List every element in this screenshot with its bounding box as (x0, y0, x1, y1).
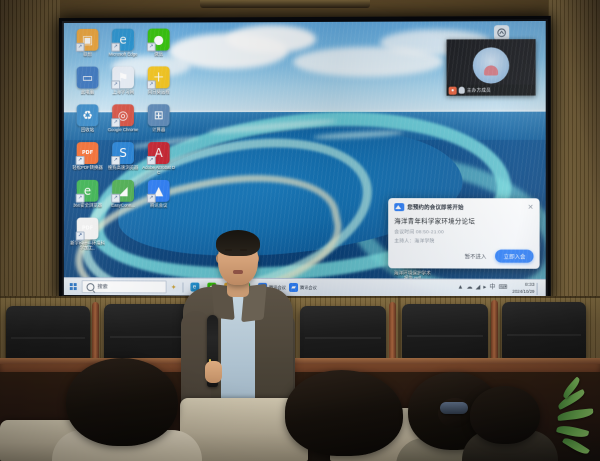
network-tray-icon[interactable]: ◢ (476, 285, 481, 292)
clock-date: 2024/10/29 (512, 288, 534, 294)
participant-name: 主办方成员 (467, 87, 491, 93)
dialog-actions: 暂不进入 立即入会 (388, 245, 539, 269)
participant-video-tile[interactable]: ● 主办方成员 (447, 39, 536, 96)
chair (6, 306, 90, 362)
desktop-icon-label: 微信 (141, 51, 177, 61)
desktop-icon[interactable]: ◢↗EasyConn... (105, 180, 141, 213)
windows-start-icon[interactable] (67, 280, 80, 293)
keyboard-tray-icon[interactable]: ⌨ (498, 285, 507, 292)
tencent-meeting-logo-icon (394, 203, 404, 211)
chair (300, 306, 386, 362)
audience-member (470, 386, 544, 461)
desktop-icon-label: 联想 (70, 52, 106, 62)
shortcut-arrow-icon: ↗ (147, 43, 156, 52)
desktop-icon[interactable]: ⊞计算器 (141, 104, 177, 137)
desktop-icon-label: 360安全浏览器 (70, 203, 106, 213)
app-icon: e↗ (112, 29, 134, 51)
desktop-icon-label: Google Chrome (105, 127, 141, 137)
chair (402, 304, 488, 360)
app-icon: ▲↗ (148, 180, 170, 202)
app-icon: e↗ (77, 180, 99, 202)
close-icon[interactable]: ✕ (528, 204, 534, 211)
app-icon: ◎↗ (112, 104, 134, 126)
app-icon: ▣↗ (77, 29, 99, 51)
audience-member (58, 358, 188, 461)
ceiling-light-strip (200, 0, 370, 8)
desktop-icon-label: 搜狗高速浏览器 (105, 165, 141, 175)
desktop-icon-label: 回收站 (70, 127, 106, 137)
windows-taskbar[interactable]: 搜索 ✦ e●▭e▰腾讯会议▰腾讯会议 ▲☁◢▸中⌨ 8:33 2024/10/… (64, 277, 546, 297)
meeting-subject: 海洋青年科学家环境分论坛 (388, 213, 539, 227)
wall-seam (0, 296, 600, 298)
volume-tray-icon[interactable]: ▸ (483, 285, 486, 292)
app-icon: ⊞ (148, 104, 170, 126)
meeting-time: 会议时间 08:50-21:00 (388, 227, 539, 236)
shortcut-arrow-icon: ↗ (76, 156, 85, 165)
video-conference-panel[interactable]: ● 主办方成员 (447, 39, 536, 96)
desktop-icon-label: Adobe Acrobat DC (141, 165, 177, 175)
dialog-title: 您预约的会议即将开始 (407, 203, 524, 211)
speaker-hair (216, 230, 260, 256)
chair-frame (491, 300, 498, 364)
desktop-icon-grid: ▣↗联想e↗Microsoft Edge●↗微信▭此电脑⚑↗上海学习网＋↗向日葵… (70, 28, 181, 255)
shortcut-arrow-icon: ↗ (111, 43, 120, 52)
chair-frame (389, 302, 396, 364)
dismiss-button[interactable]: 暂不进入 (461, 250, 491, 262)
desktop-icon-label: 腾讯会议 (141, 203, 177, 213)
onedrive-tray-icon[interactable]: ☁ (466, 285, 472, 292)
desktop-icon[interactable]: ♻回收站 (70, 104, 106, 137)
wall-display: ▣↗联想e↗Microsoft Edge●↗微信▭此电脑⚑↗上海学习网＋↗向日葵… (59, 16, 551, 302)
desktop-icon[interactable]: ▣↗联想 (70, 29, 106, 62)
shortcut-arrow-icon: ↗ (76, 231, 85, 240)
conference-room-scene: ▣↗联想e↗Microsoft Edge●↗微信▭此电脑⚑↗上海学习网＋↗向日葵… (0, 0, 600, 461)
desktop-icon[interactable]: ▲↗腾讯会议 (141, 180, 177, 213)
shortcut-arrow-icon: ↗ (76, 194, 85, 203)
chair-frame (92, 302, 99, 364)
shortcut-arrow-icon: ↗ (111, 80, 120, 89)
desktop-icon[interactable]: e↗Microsoft Edge (105, 29, 141, 62)
avatar (473, 47, 509, 83)
app-icon: ＋↗ (148, 66, 170, 88)
meeting-reminder-dialog[interactable]: 您预约的会议即将开始 ✕ 海洋青年科学家环境分论坛 会议时间 08:50-21:… (388, 198, 539, 269)
app-icon: ♻ (77, 104, 99, 126)
participant-name-bar: ● 主办方成员 (447, 84, 536, 95)
shortcut-arrow-icon: ↗ (76, 43, 85, 52)
app-icon: ▭ (77, 67, 99, 89)
app-icon: ●↗ (148, 29, 170, 51)
audience-member (285, 370, 405, 461)
desktop-screen[interactable]: ▣↗联想e↗Microsoft Edge●↗微信▭此电脑⚑↗上海学习网＋↗向日葵… (64, 21, 546, 297)
system-tray: ▲☁◢▸中⌨ (457, 285, 510, 292)
search-input[interactable]: 搜索 (82, 280, 167, 293)
shortcut-arrow-icon: ↗ (111, 156, 120, 165)
desktop-icon-label: 向日葵远程 (141, 89, 177, 99)
hair-clip (440, 402, 468, 414)
shortcut-arrow-icon: ↗ (147, 80, 156, 89)
participant-badge-icon: ● (449, 86, 457, 94)
app-icon: A↗ (148, 142, 170, 164)
app-icon: PDF↗ (77, 218, 99, 240)
shortcut-arrow-icon: ↗ (111, 194, 120, 203)
ime-tray-icon[interactable]: 中 (489, 285, 495, 292)
shortcut-arrow-icon: ↗ (147, 156, 156, 165)
app-icon: S↗ (112, 142, 134, 164)
desktop-icon-label: 新学科研—环境科学加工.. (70, 240, 106, 250)
shortcut-arrow-icon: ↗ (111, 118, 120, 127)
meeting-host: 主持人：海洋学院 (388, 236, 539, 245)
desktop-icon[interactable]: ●↗微信 (141, 29, 177, 62)
desktop-icon-label: EasyConn... (105, 203, 141, 213)
desktop-icon[interactable]: e↗360安全浏览器 (70, 180, 106, 213)
desktop-icon[interactable]: S↗搜狗高速浏览器 (105, 142, 141, 175)
desktop-icon-label: 上海学习网 (105, 89, 141, 99)
app-icon: PDF↗ (77, 142, 99, 164)
desktop-icon-label: Microsoft Edge (105, 52, 141, 62)
desktop-icon[interactable]: ▭此电脑 (70, 67, 106, 100)
desktop-icon[interactable]: A↗Adobe Acrobat DC (141, 142, 177, 175)
dialog-header: 您预约的会议即将开始 ✕ (388, 198, 539, 213)
desktop-icon[interactable]: ＋↗向日葵远程 (141, 66, 177, 99)
app-icon: ◢↗ (112, 180, 134, 202)
join-meeting-button[interactable]: 立即入会 (495, 250, 533, 263)
search-placeholder: 搜索 (97, 283, 107, 290)
chair (502, 302, 586, 360)
app-icon: ⚑↗ (112, 66, 134, 88)
desktop-icon[interactable]: ◎↗Google Chrome (105, 104, 141, 137)
search-icon (87, 283, 95, 291)
screen-share-icon[interactable] (494, 25, 509, 40)
desktop-icon[interactable]: PDF↗轻松PDF转换器 (70, 142, 106, 175)
cortana-sparkle-icon[interactable]: ✦ (167, 280, 181, 293)
taskbar-clock[interactable]: 8:33 2024/10/29 (510, 282, 534, 294)
desktop-icon[interactable]: ⚑↗上海学习网 (105, 66, 141, 99)
desktop-icon-label: 此电脑 (70, 89, 106, 99)
speaker-hand (205, 361, 222, 383)
desktop-icon-label: 计算器 (141, 127, 177, 137)
wall-left-panel (0, 0, 60, 300)
taskbar-window-label: 腾讯会议 (300, 284, 317, 290)
wall-right-panel (548, 0, 600, 300)
hidden-icons-chevron[interactable]: ▲ (457, 285, 463, 292)
desktop-icon[interactable]: PDF↗新学科研—环境科学加工.. (70, 218, 106, 251)
shortcut-arrow-icon: ↗ (147, 194, 156, 203)
show-desktop-button[interactable] (537, 282, 543, 294)
microphone-icon[interactable] (459, 87, 465, 94)
desktop-icon-label: 轻松PDF转换器 (70, 165, 106, 175)
